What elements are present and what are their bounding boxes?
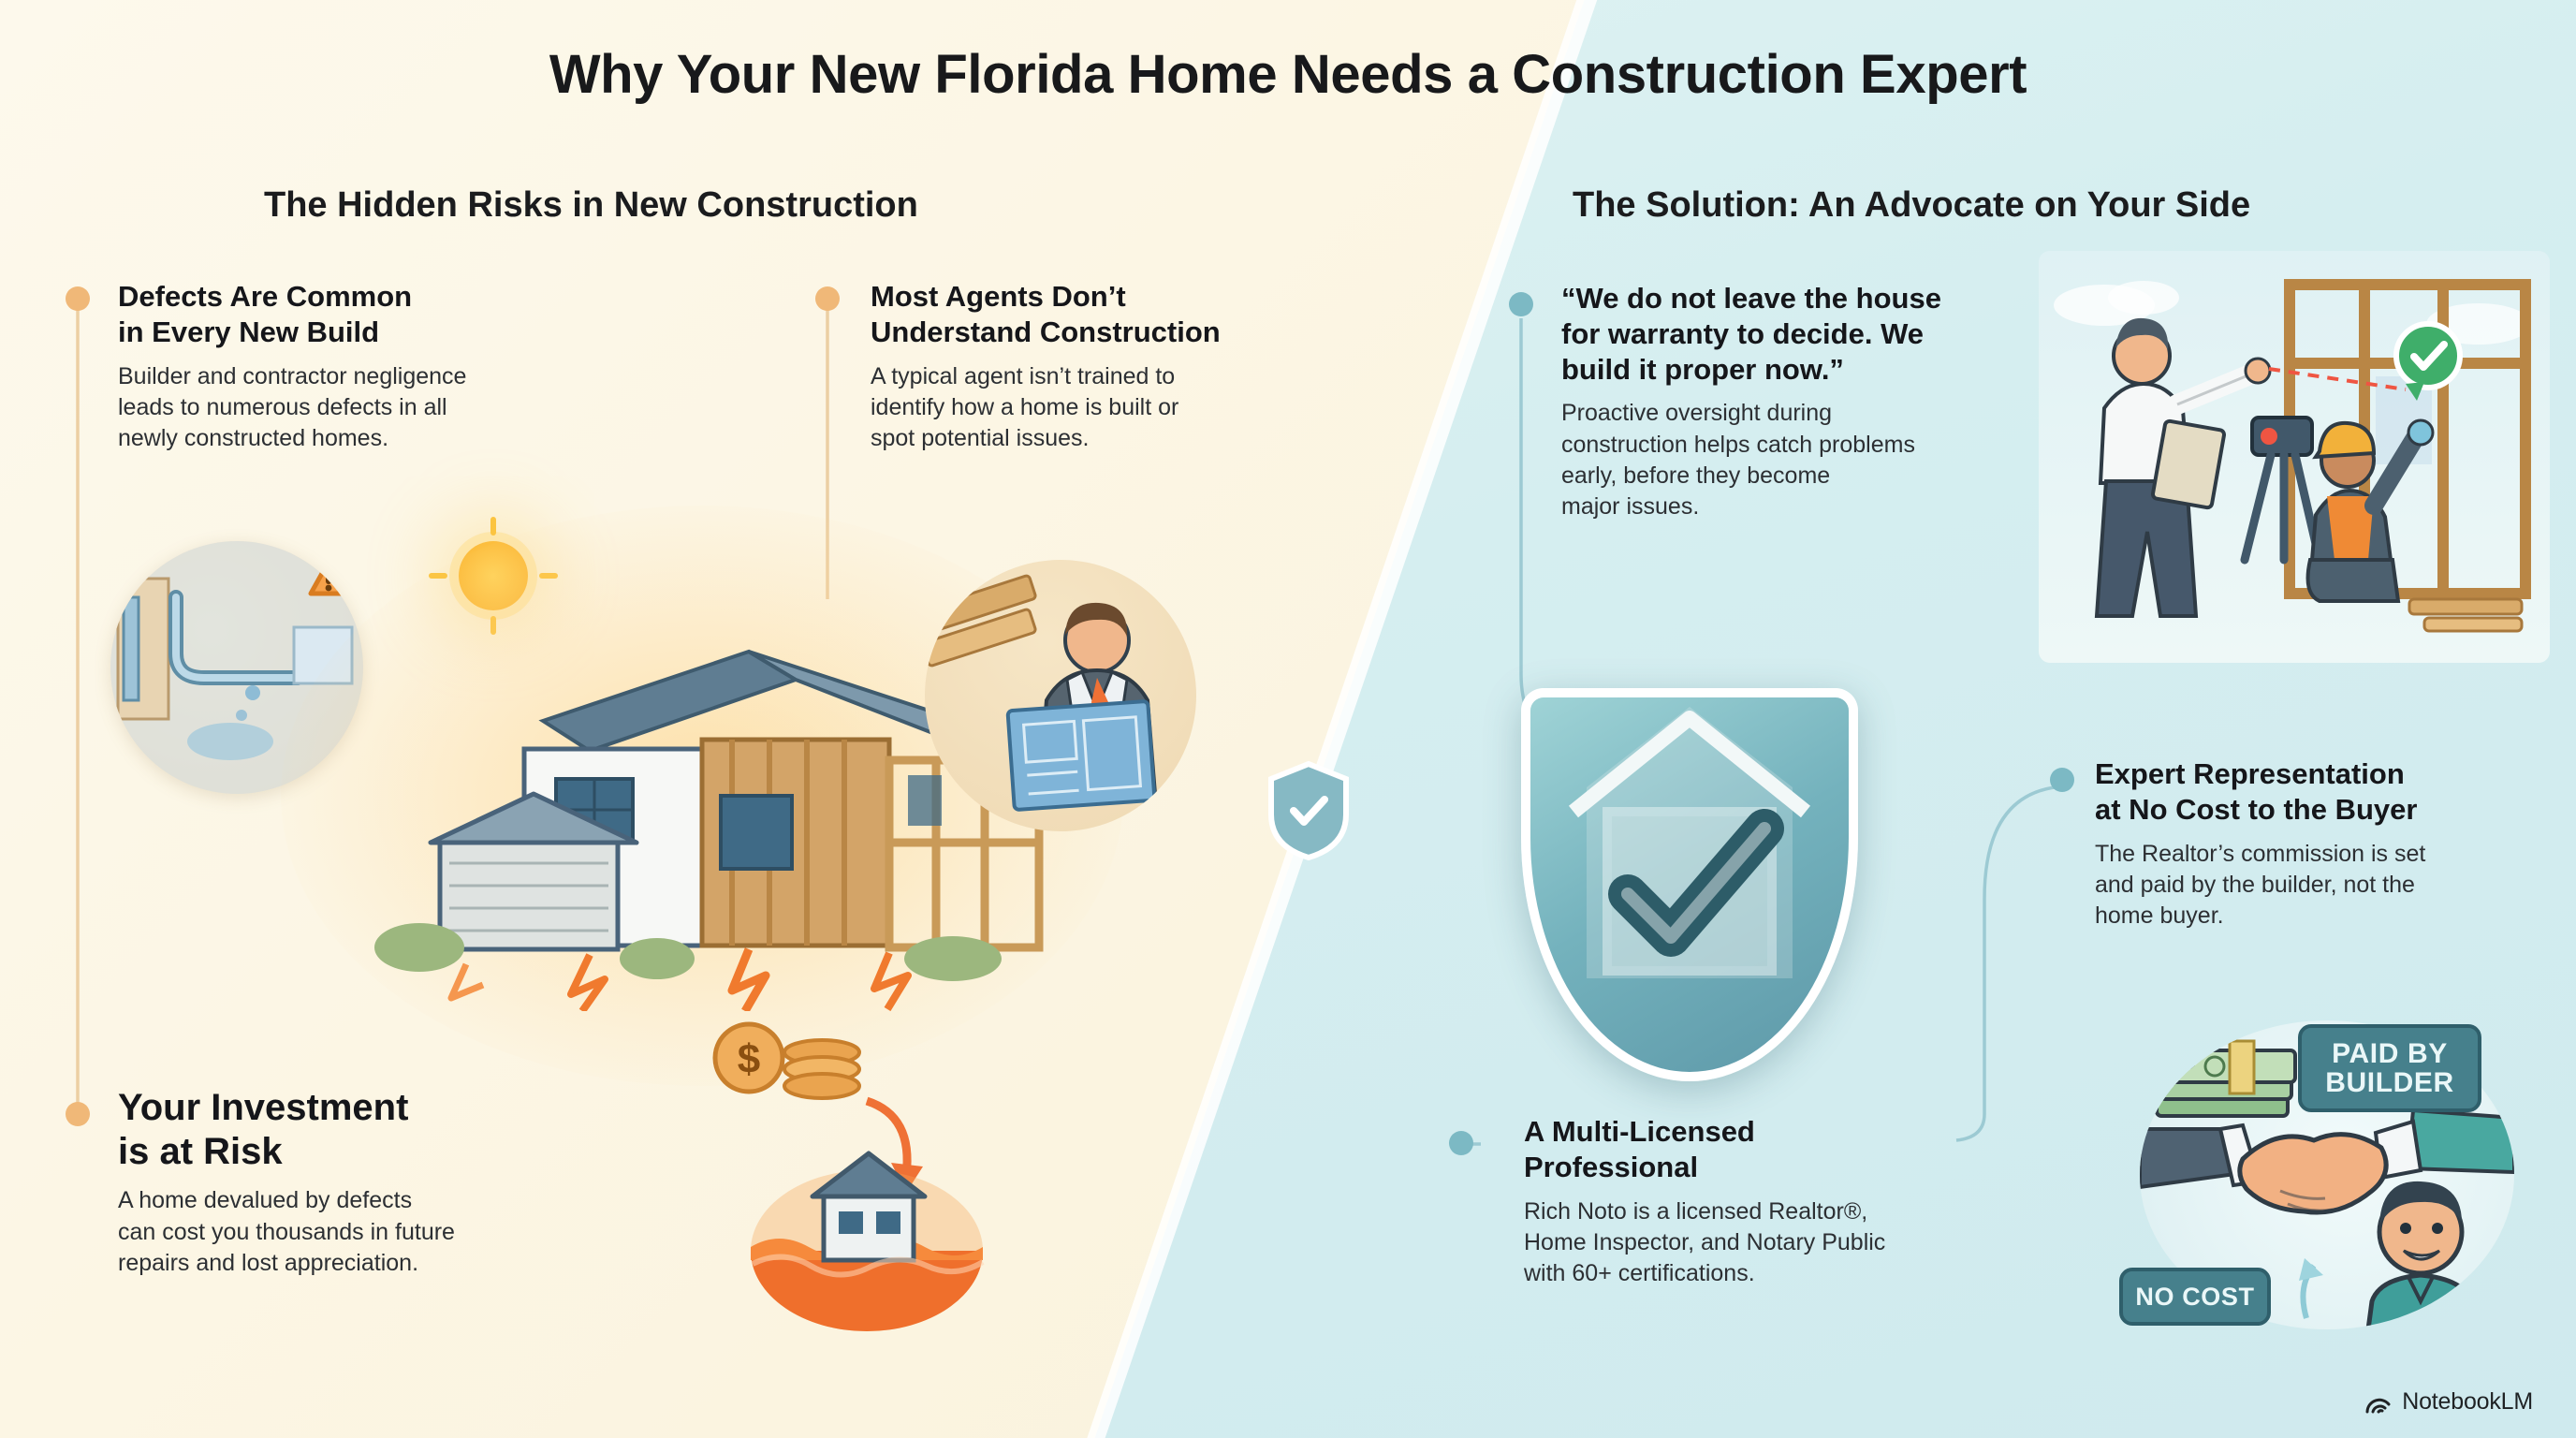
block-body: A typical agent isn’t trained to identif… bbox=[871, 361, 1348, 455]
bullet-dot-defects bbox=[66, 286, 90, 311]
bullet-dot-multi-licensed bbox=[1449, 1131, 1473, 1155]
sun-ray bbox=[490, 517, 496, 536]
block-title: Defects Are Common in Every New Build bbox=[118, 279, 558, 350]
block-quote-build-it-proper: “We do not leave the house for warranty … bbox=[1561, 281, 2086, 522]
block-body: Proactive oversight during construction … bbox=[1561, 398, 2086, 522]
block-multi-licensed-professional: A Multi-Licensed Professional Rich Noto … bbox=[1524, 1114, 2048, 1289]
bullet-dot-expert-representation bbox=[2050, 768, 2074, 792]
block-title: A Multi-Licensed Professional bbox=[1524, 1114, 2048, 1185]
block-title: Most Agents Don’t Understand Constructio… bbox=[871, 279, 1348, 350]
block-defects-are-common: Defects Are Common in Every New Build Bu… bbox=[118, 279, 558, 454]
page-title: Why Your New Florida Home Needs a Constr… bbox=[0, 43, 2576, 106]
notebooklm-watermark: NotebookLM bbox=[2364, 1387, 2533, 1416]
illustration-shield-home-protected bbox=[1521, 688, 1858, 1081]
watermark-label: NotebookLM bbox=[2402, 1388, 2533, 1416]
illustration-agent-with-blueprint bbox=[925, 560, 1196, 831]
badge-paid-by-builder: PAID BY BUILDER bbox=[2298, 1024, 2481, 1112]
block-title: Your Investment is at Risk bbox=[118, 1086, 605, 1174]
illustration-inspection-on-site bbox=[2039, 251, 2550, 663]
notebooklm-logo-icon bbox=[2364, 1387, 2393, 1416]
block-your-investment-at-risk: Your Investment is at Risk A home devalu… bbox=[118, 1086, 605, 1279]
block-body: The Realtor’s commission is set and paid… bbox=[2095, 839, 2563, 932]
illustration-devalued-home-flood: $ bbox=[683, 1011, 1048, 1339]
svg-text:$: $ bbox=[738, 1036, 760, 1082]
section-heading-solution: The Solution: An Advocate on Your Side bbox=[1573, 185, 2250, 226]
block-body: Rich Noto is a licensed Realtor®, Home I… bbox=[1524, 1196, 2048, 1290]
block-title: “We do not leave the house for warranty … bbox=[1561, 281, 2086, 387]
infographic-canvas: Why Your New Florida Home Needs a Constr… bbox=[0, 0, 2576, 1438]
block-most-agents-dont-understand: Most Agents Don’t Understand Constructio… bbox=[871, 279, 1348, 454]
block-expert-representation: Expert Representation at No Cost to the … bbox=[2095, 756, 2563, 932]
bullet-dot-investment bbox=[66, 1102, 90, 1126]
bullet-dot-quote bbox=[1509, 292, 1533, 316]
shield-check-small-icon bbox=[1266, 760, 1352, 861]
badge-no-cost: NO COST bbox=[2119, 1268, 2271, 1326]
block-body: A home devalued by defects can cost you … bbox=[118, 1185, 605, 1279]
block-body: Builder and contractor negligence leads … bbox=[118, 361, 558, 455]
section-heading-risks: The Hidden Risks in New Construction bbox=[264, 185, 918, 226]
bullet-dot-agents bbox=[815, 286, 840, 311]
block-title: Expert Representation at No Cost to the … bbox=[2095, 756, 2563, 828]
